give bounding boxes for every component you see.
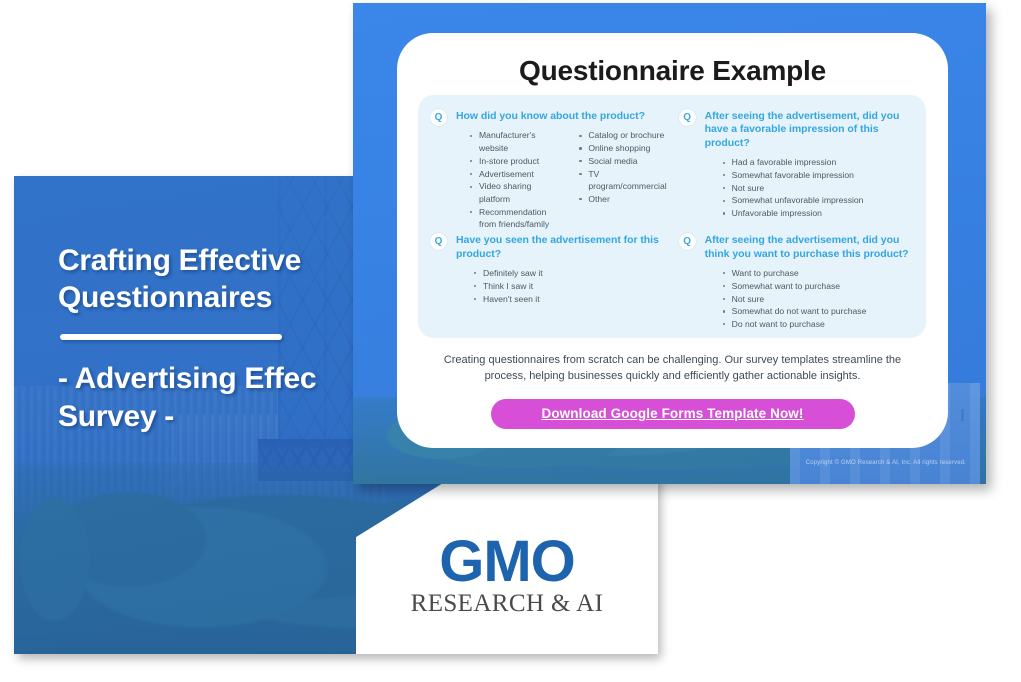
- option-item[interactable]: Haven't seen it: [472, 293, 667, 306]
- option-item[interactable]: Not sure: [721, 293, 912, 306]
- option-item[interactable]: Video sharing platform: [468, 180, 557, 205]
- option-item[interactable]: Somewhat unfavorable impression: [721, 194, 912, 207]
- option-item[interactable]: Somewhat favorable impression: [721, 169, 912, 182]
- option-item[interactable]: Manufacturer's website: [468, 129, 557, 154]
- question-text-1: How did you know about the product?: [456, 110, 667, 123]
- question-text-2: After seeing the advertisement, did you …: [705, 110, 912, 150]
- question-badge-icon: Q: [430, 109, 447, 126]
- gmo-logo-tagline: RESEARCH & AI: [411, 590, 604, 618]
- option-item[interactable]: Catalog or brochure: [577, 129, 666, 142]
- question-options-3: Definitely saw it Think I saw it Haven't…: [456, 267, 667, 305]
- question-options-1: Manufacturer's website In-store product …: [456, 129, 667, 231]
- questionnaire-card: Questionnaire Example Q How did you know…: [397, 33, 948, 448]
- option-item[interactable]: In-store product: [468, 155, 557, 168]
- question-item-1: Q How did you know about the product? Ma…: [430, 109, 667, 231]
- download-template-button[interactable]: Download Google Forms Template Now!: [491, 399, 855, 429]
- option-item[interactable]: Want to purchase: [721, 267, 912, 280]
- option-item[interactable]: Not sure: [721, 182, 912, 195]
- title-divider-rule: [60, 334, 282, 340]
- option-item[interactable]: Somewhat want to purchase: [721, 280, 912, 293]
- questions-grid: Q How did you know about the product? Ma…: [418, 95, 926, 338]
- marketing-blurb: Creating questionnaires from scratch can…: [431, 353, 914, 385]
- gmo-logo-wordmark: GMO: [411, 535, 604, 588]
- question-text-3: Have you seen the advertisement for this…: [456, 234, 667, 261]
- question-options-4: Want to purchase Somewhat want to purcha…: [705, 267, 912, 331]
- question-badge-icon: Q: [430, 233, 447, 250]
- option-item[interactable]: Advertisement: [468, 168, 557, 181]
- question-item-4: Q After seeing the advertisement, did yo…: [679, 233, 912, 330]
- cta-container: Download Google Forms Template Now!: [397, 399, 948, 429]
- option-item[interactable]: Somewhat do not want to purchase: [721, 305, 912, 318]
- question-item-2: Q After seeing the advertisement, did yo…: [679, 109, 912, 231]
- questions-panel: Q How did you know about the product? Ma…: [418, 95, 926, 338]
- question-item-3: Q Have you seen the advertisement for th…: [430, 233, 667, 330]
- right-slide: Questionnaire Example Q How did you know…: [353, 3, 986, 484]
- question-text-4: After seeing the advertisement, did you …: [705, 234, 912, 261]
- question-badge-icon: Q: [679, 109, 696, 126]
- option-item[interactable]: Online shopping: [577, 142, 666, 155]
- option-item[interactable]: Think I saw it: [472, 280, 667, 293]
- option-item[interactable]: Other: [577, 193, 666, 206]
- option-item[interactable]: Recommendation from friends/family: [468, 206, 557, 231]
- question-badge-icon: Q: [679, 233, 696, 250]
- question-options-2: Had a favorable impression Somewhat favo…: [705, 156, 912, 220]
- copyright-notice: Copyright © GMO Research & AI, Inc. All …: [806, 460, 966, 466]
- page-title: Questionnaire Example: [397, 55, 948, 87]
- option-item[interactable]: Had a favorable impression: [721, 156, 912, 169]
- option-item[interactable]: Do not want to purchase: [721, 318, 912, 331]
- gmo-logo: GMO RESEARCH & AI: [411, 535, 604, 618]
- option-item[interactable]: Definitely saw it: [472, 267, 667, 280]
- option-item[interactable]: Unfavorable impression: [721, 207, 912, 220]
- option-item[interactable]: TV program/commercial: [577, 168, 666, 193]
- option-item[interactable]: Social media: [577, 155, 666, 168]
